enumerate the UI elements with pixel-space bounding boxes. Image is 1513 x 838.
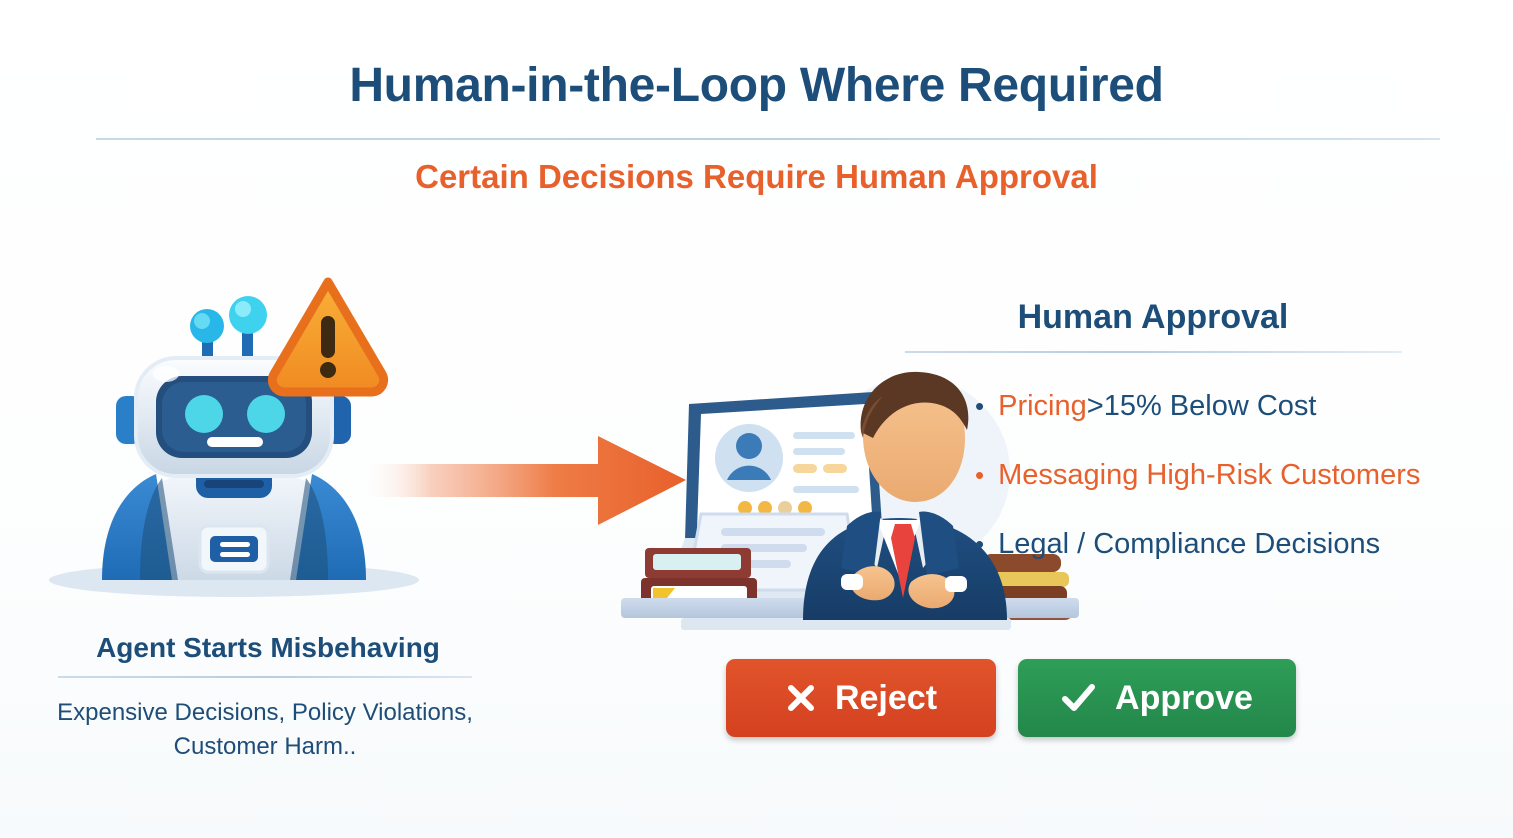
reject-button[interactable]: Reject [726,659,996,737]
slide-canvas: Human-in-the-Loop Where Required Certain… [0,0,1513,838]
left-caption-divider [58,676,472,678]
reject-button-label: Reject [835,679,937,718]
list-item-text-secondary: >15% Below Cost [1087,390,1317,423]
check-icon [1061,682,1097,714]
robot-eye-left [185,395,223,433]
left-caption-title: Agent Starts Misbehaving [58,632,478,664]
approve-button-label: Approve [1115,679,1253,718]
cross-icon [785,682,817,714]
left-caption-description: Expensive Decisions, Policy Violations, … [40,696,490,764]
page-subtitle: Certain Decisions Require Human Approval [0,158,1513,196]
list-item: • Legal / Compliance Decisions [975,528,1505,561]
warning-triangle-icon [272,282,383,392]
robot-mouth [207,437,263,447]
bullet-marker: • [975,462,984,488]
robot-eye-right [247,395,285,433]
list-item: • Pricing >15% Below Cost [975,390,1505,423]
approval-criteria-list: • Pricing >15% Below Cost • Messaging Hi… [975,390,1505,597]
list-item-text-primary: Messaging High-Risk Customers [998,459,1420,492]
bullet-marker: • [975,393,984,419]
list-item-text-primary: Pricing [998,390,1087,423]
approve-button[interactable]: Approve [1018,659,1296,737]
human-approval-heading: Human Approval [903,298,1403,337]
list-item: • Messaging High-Risk Customers [975,459,1505,492]
list-item-text-primary: Legal / Compliance Decisions [998,528,1380,561]
page-title: Human-in-the-Loop Where Required [0,58,1513,113]
title-divider [96,138,1440,140]
bullet-marker: • [975,531,984,557]
human-approval-divider [905,351,1402,353]
